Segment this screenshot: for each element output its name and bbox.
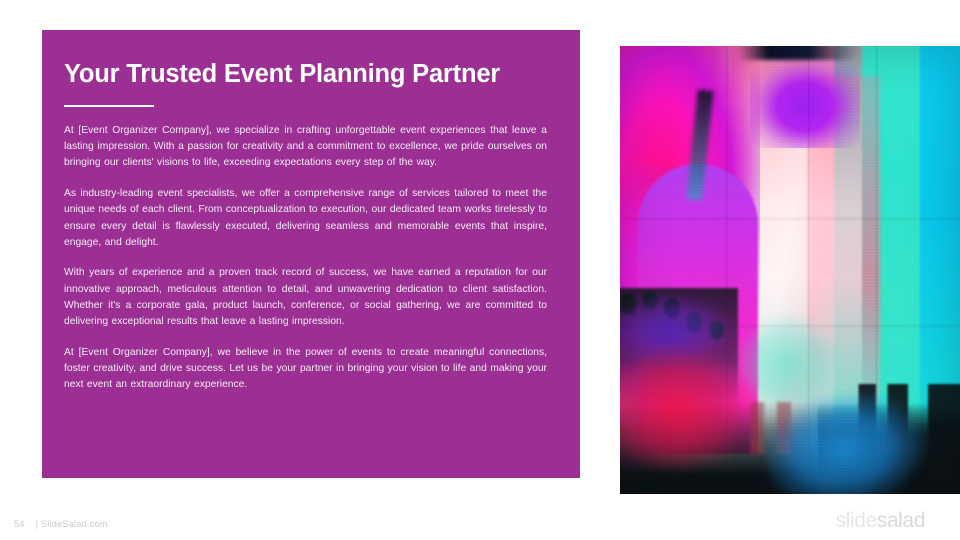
paragraph-2: As industry-leading event specialists, w…: [64, 186, 547, 251]
photo-violet-cap: [750, 46, 860, 148]
photo-dark-seam: [686, 89, 713, 200]
photo-blue-glow: [756, 368, 960, 494]
photo-fabric-texture: [620, 46, 960, 494]
photo-dark-ceiling: [738, 46, 858, 60]
paragraph-3: With years of experience and a proven tr…: [64, 265, 547, 330]
photo-panel-seams: [620, 46, 960, 494]
footer: 54 | SlideSalad.com: [14, 519, 108, 529]
page-number: 54: [14, 519, 25, 529]
photo-vignette: [620, 46, 960, 494]
photo-violet-glow: [620, 286, 744, 376]
photo-dark-foreground: [620, 402, 960, 494]
photo-teal-column: [834, 46, 920, 471]
event-photo-artwork: [620, 46, 960, 494]
logo-text-slide: slide: [836, 509, 877, 532]
photo-base-layer: [620, 46, 960, 494]
photo-dark-blocks: [818, 384, 960, 494]
photo-magenta-lower: [620, 166, 754, 466]
footer-site-label: | SlideSalad.com: [36, 519, 108, 529]
photo-magenta-mass: [620, 46, 760, 370]
photo-red-glow: [620, 334, 766, 484]
title-divider: [64, 105, 154, 107]
footer-site: SlideSalad.com: [41, 519, 108, 529]
photo-pink-column: [808, 76, 880, 406]
paragraph-1: At [Event Organizer Company], we special…: [64, 123, 547, 172]
footer-separator: |: [36, 519, 39, 529]
slidesalad-logo: slidesalad: [836, 510, 925, 531]
page-title: Your Trusted Event Planning Partner: [64, 60, 547, 88]
slide-canvas: Your Trusted Event Planning Partner At […: [0, 0, 960, 540]
photo-dark-blocks-secondary: [746, 402, 816, 454]
content-panel: Your Trusted Event Planning Partner At […: [42, 30, 580, 478]
photo-cyan-wall: [882, 46, 960, 480]
body-text-block: At [Event Organizer Company], we special…: [64, 123, 547, 393]
logo-text-salad: salad: [877, 509, 925, 532]
event-photo: [620, 46, 960, 494]
photo-teal-glow: [728, 304, 848, 424]
photo-center-column: [732, 46, 862, 494]
photo-purple-arch: [638, 164, 758, 454]
paragraph-4: At [Event Organizer Company], we believe…: [64, 345, 547, 394]
photo-crowd-silhouettes: [620, 288, 738, 406]
